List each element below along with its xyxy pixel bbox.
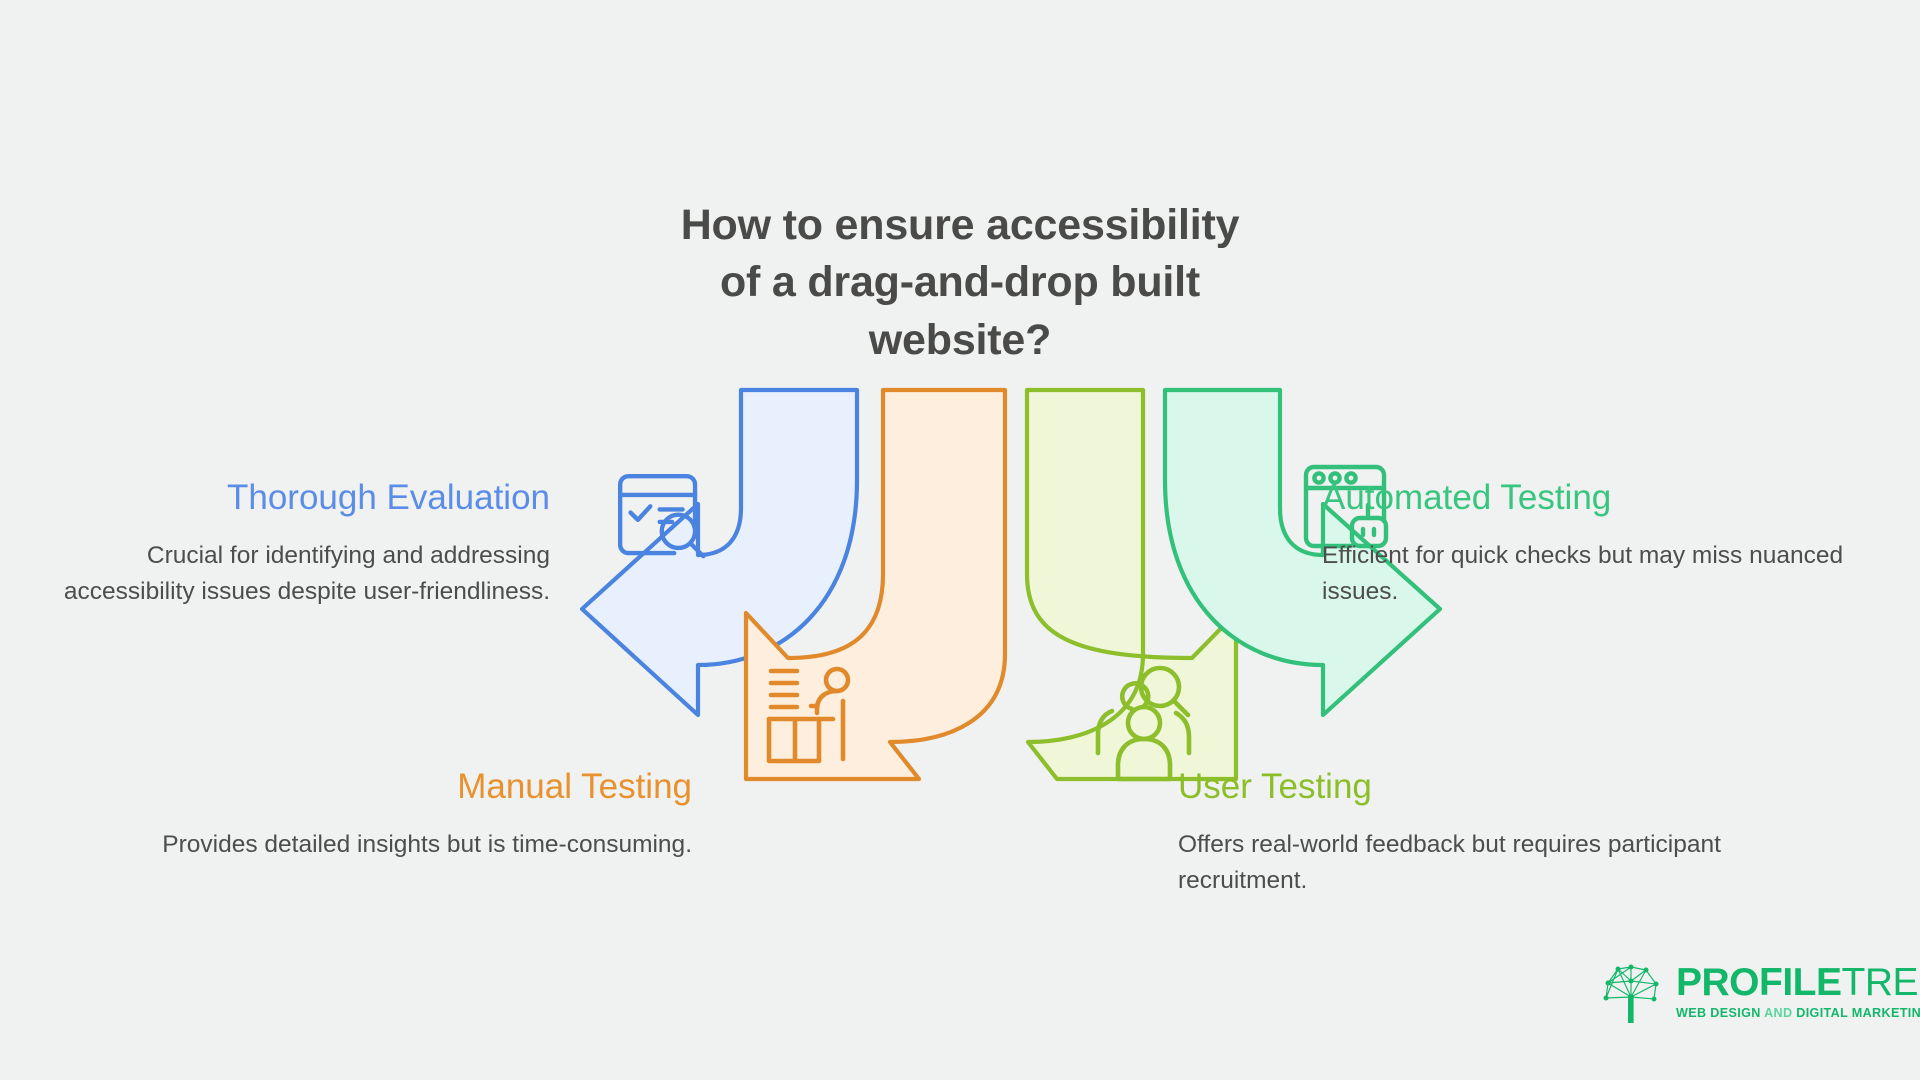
- item-label-thorough-evaluation: Thorough Evaluation: [20, 478, 550, 518]
- page-title: How to ensure accessibility of a drag-an…: [610, 197, 1310, 370]
- arrow-diagram: [560, 368, 1304, 788]
- logo-tagline-part2: AND: [1764, 1006, 1792, 1020]
- item-description-automated-testing: Efficient for quick checks but may miss …: [1322, 538, 1862, 609]
- logo-wordmark: PROFILETREE: [1676, 963, 1920, 1002]
- logo-word-tree: TREE: [1842, 961, 1920, 1004]
- logo-tagline: WEB DESIGN AND DIGITAL MARKETING: [1676, 1007, 1920, 1020]
- logo-text: PROFILETREE WEB DESIGN AND DIGITAL MARKE…: [1676, 963, 1920, 1020]
- profiletree-logo[interactable]: PROFILETREE WEB DESIGN AND DIGITAL MARKE…: [1596, 955, 1896, 1027]
- item-automated-testing: Automated Testing Efficient for quick ch…: [1322, 478, 1862, 609]
- infographic-canvas: How to ensure accessibility of a drag-an…: [0, 0, 1920, 1080]
- logo-tagline-part1: WEB DESIGN: [1676, 1006, 1761, 1020]
- logo-word-profile: PROFILE: [1676, 961, 1842, 1004]
- item-label-manual-testing: Manual Testing: [80, 767, 692, 807]
- page-title-line-3: website?: [610, 312, 1310, 370]
- item-thorough-evaluation: Thorough Evaluation Crucial for identify…: [20, 478, 550, 609]
- page-title-line-2: of a drag-and-drop built: [610, 254, 1310, 312]
- item-label-user-testing: User Testing: [1178, 767, 1738, 807]
- item-label-automated-testing: Automated Testing: [1322, 478, 1862, 518]
- item-description-thorough-evaluation: Crucial for identifying and addressing a…: [20, 538, 550, 609]
- item-description-user-testing: Offers real-world feedback but requires …: [1178, 827, 1738, 898]
- network-tree-icon: [1596, 957, 1666, 1025]
- item-description-manual-testing: Provides detailed insights but is time-c…: [80, 827, 692, 863]
- item-manual-testing: Manual Testing Provides detailed insight…: [80, 767, 692, 863]
- logo-tagline-part3: DIGITAL MARKETING: [1796, 1006, 1920, 1020]
- page-title-line-1: How to ensure accessibility: [610, 197, 1310, 255]
- item-user-testing: User Testing Offers real-world feedback …: [1178, 767, 1738, 898]
